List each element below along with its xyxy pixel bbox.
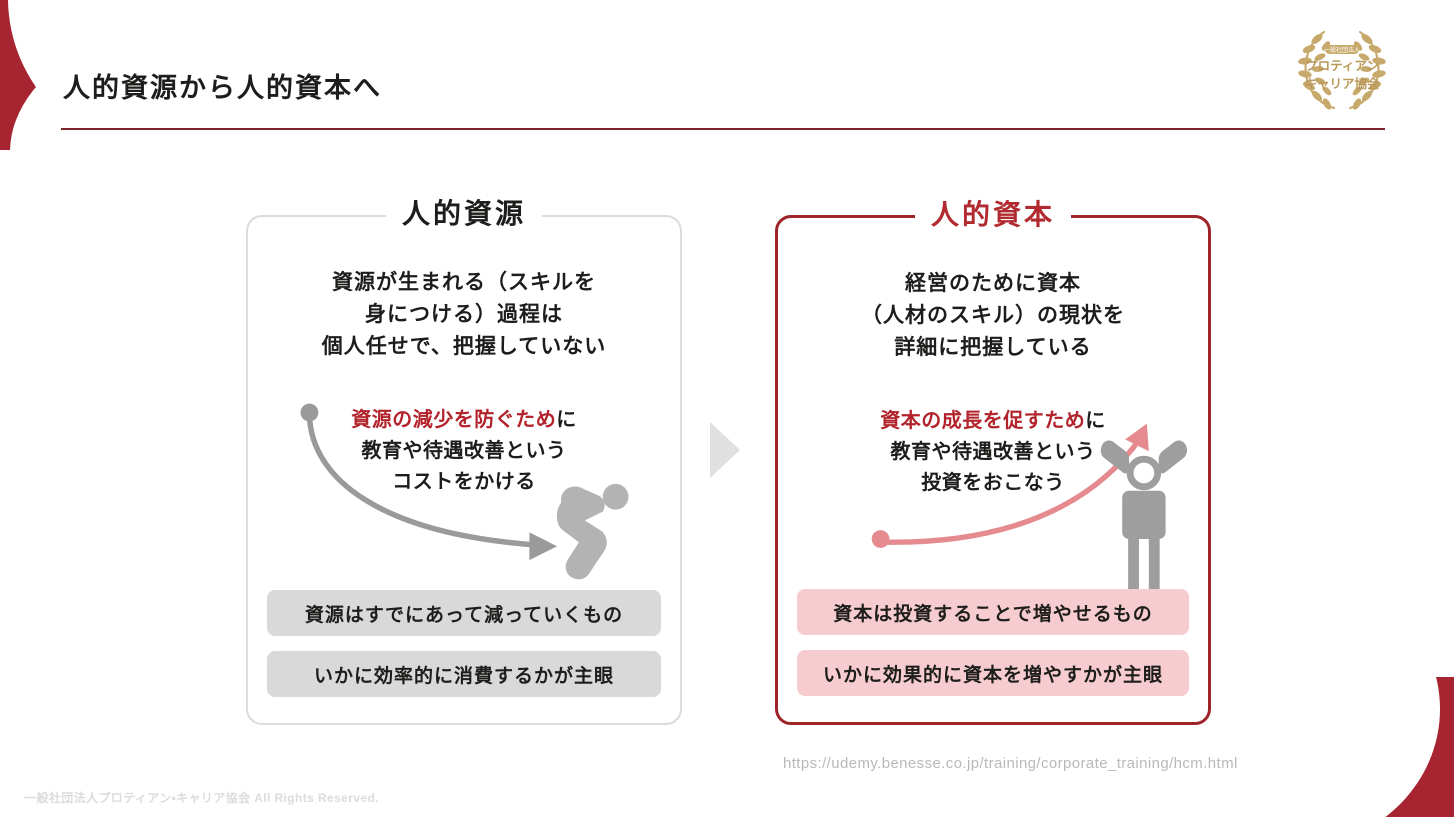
statement-line: 投資をおこなう — [778, 468, 1208, 499]
organization-logo: 一般社団法人 プロティアン キャリア協会 — [1292, 22, 1392, 110]
description-line: 資源が生まれる（スキルを — [248, 267, 680, 299]
human-resource-pill-group: 資源はすでにあって減っていくもの いかに効率的に消費するかが主眼 — [267, 590, 661, 697]
human-resource-card: 人的資源 資源が生まれる（スキルを 身につける）過程は 個人任せで、把握していな… — [246, 215, 682, 725]
statement-highlight-text: 資本の成長を促すため — [880, 410, 1085, 432]
copyright-footer: 一般社団法人プロティアン・キャリア協会 All Rights Reserved. — [24, 789, 379, 806]
description-line: 詳細に把握している — [778, 332, 1208, 364]
crouching-person-figure-icon — [557, 484, 629, 580]
laurel-wreath-emblem-icon: 一般社団法人 プロティアン キャリア協会 — [1292, 22, 1392, 110]
description-line: 個人任せで、把握していない — [248, 331, 680, 363]
human-capital-statement: 資本の成長を促すために 教育や待遇改善という 投資をおこなう — [778, 406, 1208, 499]
title-divider — [61, 128, 1385, 130]
human-capital-description: 経営のために資本 （人材のスキル）の現状を 詳細に把握している — [778, 268, 1208, 364]
human-capital-card-title: 人的資本 — [915, 193, 1071, 233]
description-line: 身につける）過程は — [248, 299, 680, 331]
human-resource-card-title: 人的資源 — [386, 192, 542, 232]
bottom-right-corner-decoration — [1330, 677, 1454, 817]
statement-line: 教育や待遇改善という — [248, 436, 680, 467]
human-resource-statement: 資源の減少を防ぐために 教育や待遇改善という コストをかける — [248, 405, 680, 498]
statement-highlight-text: 資源の減少を防ぐため — [351, 409, 556, 431]
human-capital-card: 人的資本 経営のために資本 （人材のスキル）の現状を 詳細に把握している — [775, 215, 1211, 725]
statement-line-highlight: 資本の成長を促すために — [778, 406, 1208, 437]
description-line: （人材のスキル）の現状を — [778, 300, 1208, 332]
pill-item: 資本は投資することで増やせるもの — [797, 589, 1189, 635]
logo-org-prefix: 一般社団法人 — [1324, 46, 1360, 54]
statement-line-highlight: 資源の減少を防ぐために — [248, 405, 680, 436]
description-line: 経営のために資本 — [778, 268, 1208, 300]
human-capital-pill-group: 資本は投資することで増やせるもの いかに効果的に資本を増やすかが主眼 — [797, 589, 1189, 696]
slide-canvas: 人的資源から人的資本へ — [0, 0, 1454, 817]
human-resource-description: 資源が生まれる（スキルを 身につける）過程は 個人任せで、把握していない — [248, 267, 680, 363]
pill-item: 資源はすでにあって減っていくもの — [267, 590, 661, 636]
right-triangle-arrow-icon — [710, 422, 740, 478]
statement-highlight-tail: に — [1085, 410, 1106, 432]
source-url-text: https://udemy.benesse.co.jp/training/cor… — [783, 755, 1238, 772]
pill-item: いかに効果的に資本を増やすかが主眼 — [797, 650, 1189, 696]
statement-highlight-tail: に — [556, 409, 577, 431]
logo-line2: キャリア協会 — [1304, 76, 1380, 91]
pill-item: いかに効率的に消費するかが主眼 — [267, 651, 661, 697]
statement-line: 教育や待遇改善という — [778, 437, 1208, 468]
corner-mask — [1330, 677, 1440, 817]
statement-line: コストをかける — [248, 467, 680, 498]
page-title: 人的資源から人的資本へ — [63, 66, 382, 105]
logo-line1: プロティアン — [1305, 58, 1379, 73]
